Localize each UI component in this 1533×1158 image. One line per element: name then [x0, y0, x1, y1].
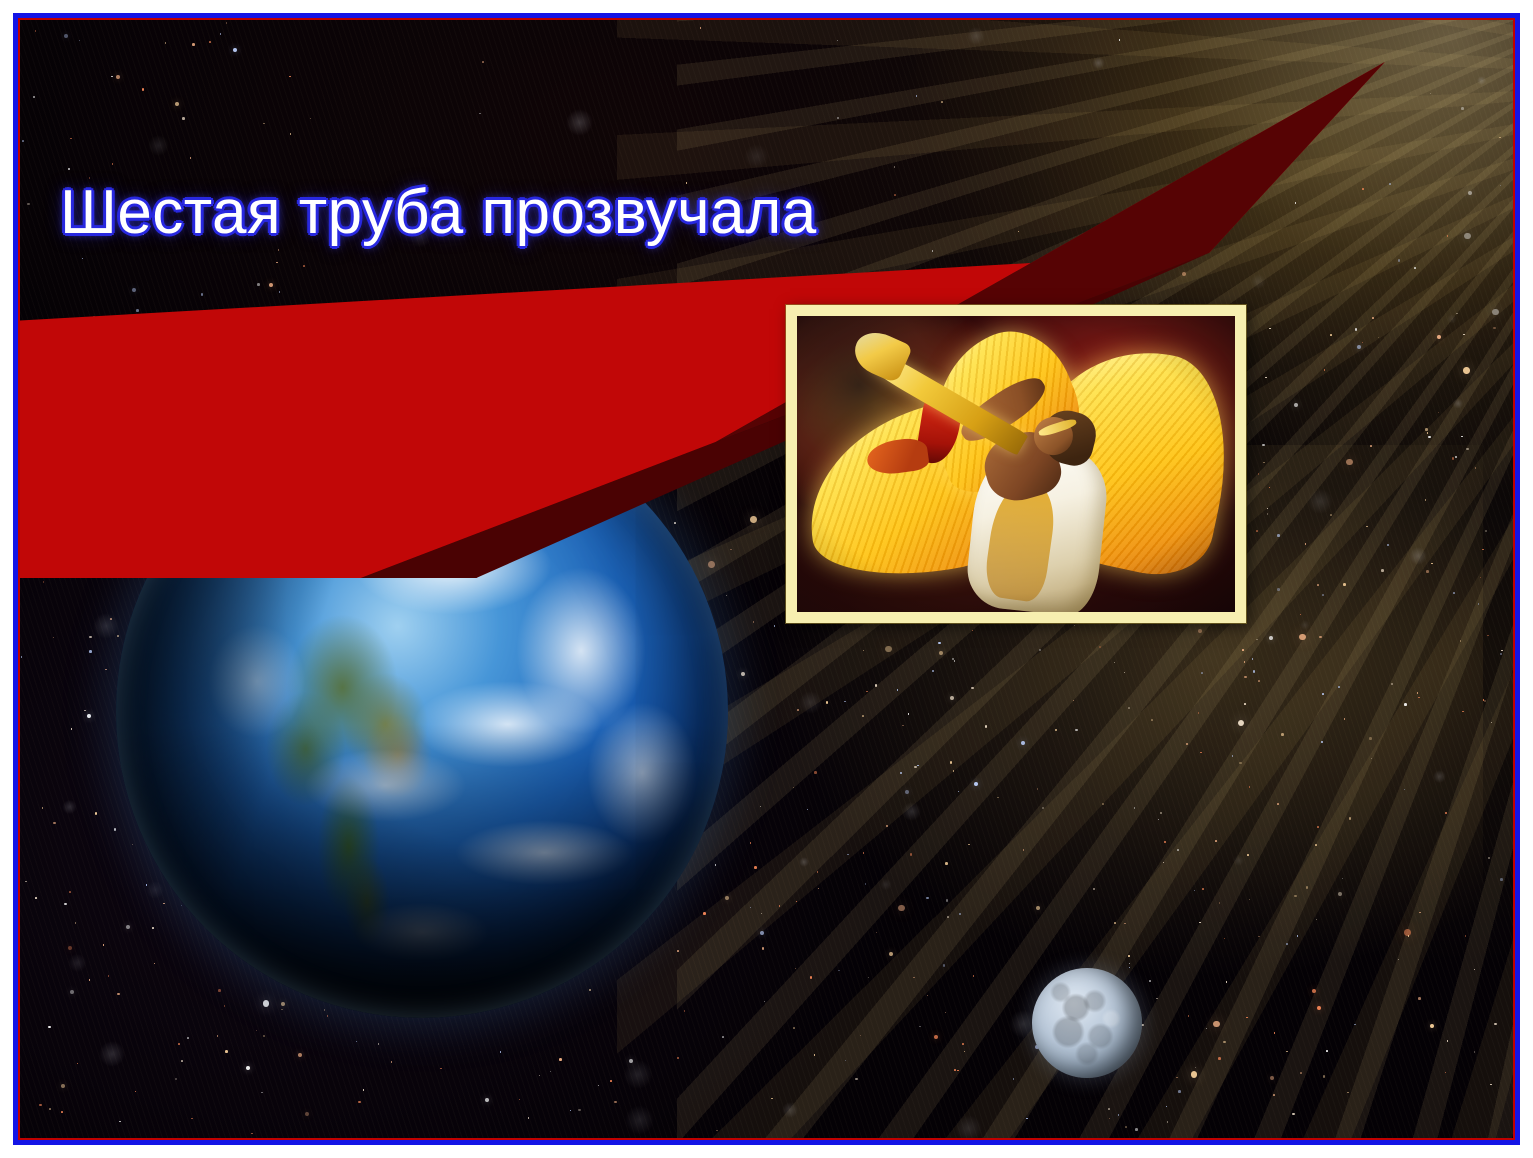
slide-canvas: Шестая труба прозвучала — [20, 20, 1513, 1138]
angel-art-vignette — [797, 316, 1235, 612]
slide-title: Шестая труба прозвучала — [60, 182, 817, 244]
slide-blue-border: Шестая труба прозвучала — [13, 13, 1520, 1145]
angel-picture-art — [797, 316, 1235, 612]
moon-globe — [1032, 968, 1142, 1078]
slide-outer-margin: Шестая труба прозвучала — [0, 0, 1533, 1158]
slide-root: Шестая труба прозвучала — [0, 0, 1533, 1158]
angel-picture-frame — [786, 305, 1246, 623]
earth-globe — [116, 406, 728, 1018]
slide-red-border: Шестая труба прозвучала — [18, 18, 1515, 1140]
earth-atmosphere-limb — [116, 406, 728, 1018]
